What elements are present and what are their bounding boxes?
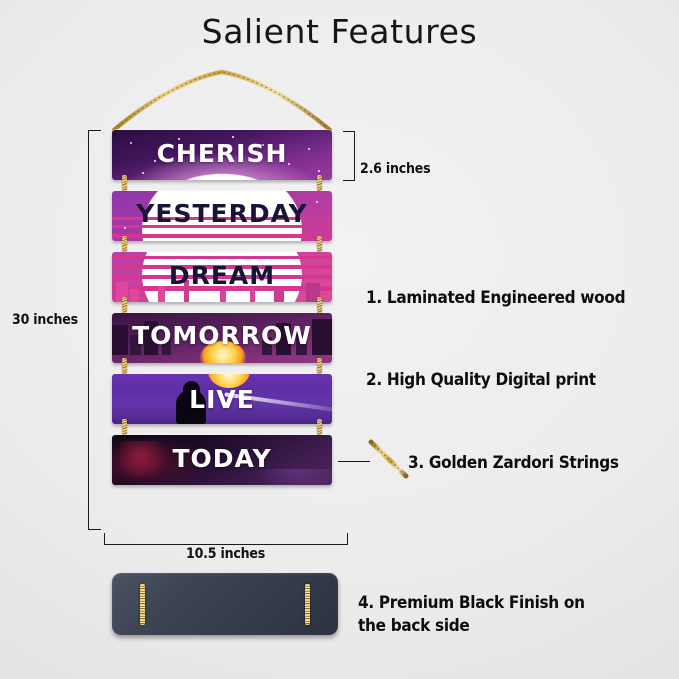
width-bracket bbox=[104, 533, 348, 545]
feature-item-4: 4. Premium Black Finish on the back side bbox=[358, 592, 585, 638]
backboard-string-left bbox=[140, 584, 145, 625]
connector-string-1-left bbox=[122, 175, 127, 191]
connector-string-5-right bbox=[317, 419, 322, 435]
dimension-label-width: 10.5 inches bbox=[186, 546, 265, 562]
feature-item-3: 3. Golden Zardori Strings bbox=[408, 452, 619, 475]
leader-line-strings bbox=[338, 461, 370, 462]
panel-yesterday-label: YESTERDAY bbox=[112, 199, 332, 228]
golden-hanging-rope-icon bbox=[104, 62, 340, 134]
dimension-label-panel-height: 2.6 inches bbox=[360, 161, 430, 177]
feature-item-1: 1. Laminated Engineered wood bbox=[366, 287, 625, 310]
panel-today[interactable]: TODAY bbox=[112, 435, 332, 485]
backboard-string-right bbox=[305, 584, 310, 625]
connector-string-4-left bbox=[122, 358, 127, 374]
panel-tomorrow[interactable]: TOMORROW bbox=[112, 313, 332, 363]
page-title: Salient Features bbox=[0, 12, 679, 51]
connector-string-3-right bbox=[317, 297, 322, 313]
connector-string-1-right bbox=[317, 175, 322, 191]
connector-string-2-right bbox=[317, 236, 322, 252]
panel-live-label: LIVE bbox=[112, 385, 332, 414]
dimension-label-height: 30 inches bbox=[12, 312, 78, 328]
panel-yesterday[interactable]: YESTERDAY bbox=[112, 191, 332, 241]
height-bracket bbox=[88, 130, 101, 530]
connector-string-3-left bbox=[122, 297, 127, 313]
panel-cherish[interactable]: CHERISH bbox=[112, 130, 332, 180]
panel-tomorrow-label: TOMORROW bbox=[112, 321, 332, 350]
panel-dream[interactable]: DREAM bbox=[112, 252, 332, 302]
connector-string-2-left bbox=[122, 236, 127, 252]
panel-height-bracket bbox=[343, 131, 355, 181]
feature-item-2: 2. High Quality Digital print bbox=[366, 369, 596, 392]
wall-hanging-assembly: CHERISH YESTERDAY bbox=[104, 62, 340, 532]
panel-cherish-label: CHERISH bbox=[112, 139, 332, 168]
panel-today-label: TODAY bbox=[112, 444, 332, 473]
golden-zardori-string-sample-icon bbox=[368, 438, 410, 480]
connector-string-5-left bbox=[122, 419, 127, 435]
panel-live[interactable]: LIVE bbox=[112, 374, 332, 424]
connector-string-4-right bbox=[317, 358, 322, 374]
panel-dream-label: DREAM bbox=[112, 261, 332, 290]
backboard-black-finish[interactable] bbox=[112, 573, 338, 635]
